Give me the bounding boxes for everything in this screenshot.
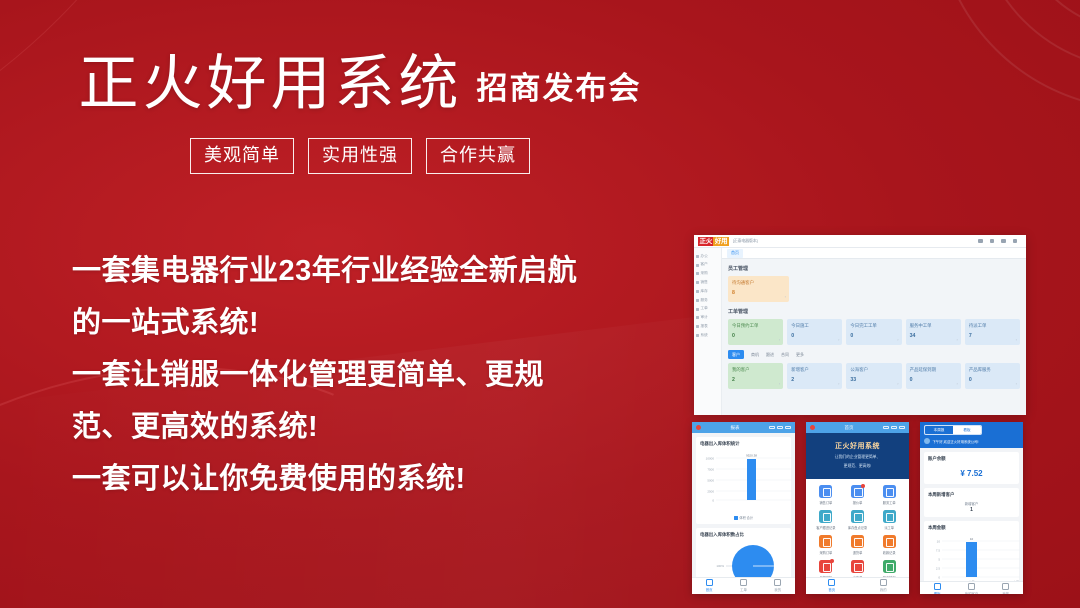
app-tile[interactable]: 服务工单: [873, 485, 905, 505]
desktop-sidebar: 办公 客户 采购 销售 库存 服务 工单 审计 报表 系统: [694, 248, 722, 415]
app-tile-label: 派工单: [873, 525, 905, 530]
app-icon: [883, 560, 896, 573]
bar-0: [747, 459, 756, 500]
system-label: [正泰电器版本]: [733, 238, 758, 244]
app-tile-label: 采购订单: [810, 550, 842, 555]
desktop-screenshot: 正火 好用 [正泰电器版本] 办公 客户 采购 销售 库存 服务 工单 审计 报: [694, 235, 1026, 415]
tabbar-label: 我的客户: [965, 592, 979, 594]
stat-card-label: 产品延保到期: [910, 367, 957, 372]
sidebar-item-label: 采购: [701, 272, 708, 276]
stat-card-value: 7: [969, 333, 1016, 339]
sidebar-item-label: 服务: [701, 299, 708, 303]
stat-card-label: 服务中工单: [910, 323, 957, 328]
stat-card-label: 待沟通客户: [732, 280, 785, 285]
app-tile[interactable]: 退货单: [842, 535, 874, 555]
sidebar-item-label: 审计: [701, 316, 708, 320]
wrench-icon: [696, 308, 699, 311]
fullscreen-icon[interactable]: [1001, 239, 1006, 244]
ytick-2: 5: [938, 558, 940, 562]
stat-card-label: 产品库服务: [969, 367, 1016, 372]
chevron-right-icon: ›: [897, 337, 898, 342]
bell-icon[interactable]: [990, 239, 995, 244]
copy-line-3: 范、更高效的系统!: [72, 401, 692, 453]
tag-item-0: 美观简单: [190, 138, 294, 174]
phone-body: 正火好用系统 让我们的企业管理更简单、 更规范、更高效! 销售订单 报价单 服务…: [806, 433, 909, 594]
filter-chip-followup[interactable]: 跟进: [766, 352, 774, 358]
new-customer-sub: 新增客户: [965, 502, 979, 506]
home-icon: [828, 579, 835, 586]
stat-card-value: 0: [791, 333, 838, 339]
list-icon: [740, 579, 747, 586]
chart-title: 本周金额: [928, 525, 1015, 531]
status-icon-group: [769, 426, 791, 430]
headset-icon: [696, 299, 699, 302]
phone-status-title: 首页: [845, 425, 854, 431]
ytick-0: 10000: [706, 457, 715, 461]
home-icon: [706, 579, 713, 586]
signal-icon: [769, 426, 775, 430]
tabbar-item-mine[interactable]: 我的: [858, 579, 910, 592]
person-icon: [774, 579, 781, 586]
grid-icon: [696, 255, 699, 258]
tabbar-label: 工单: [740, 588, 747, 592]
tabbar-label: 看板: [934, 592, 941, 594]
phone-tabbar: 看板 我的客户 我的: [920, 581, 1023, 594]
tabbar-label: 首页: [706, 588, 713, 592]
tabbar-label: 我的: [880, 588, 887, 592]
stat-card-value: 0: [850, 333, 897, 339]
tabbar-item-customers[interactable]: 我的客户: [954, 583, 988, 594]
phone-screenshot-apps: 首页 正火好用系统 让我们的企业管理更简单、 更规范、更高效! 销售订单 报价单…: [806, 422, 909, 594]
tabbar-item-mine[interactable]: 我的: [989, 583, 1023, 594]
desktop-topbar: 正火 好用 [正泰电器版本]: [694, 235, 1026, 248]
ytick-1: 7500: [707, 468, 714, 472]
tab-home[interactable]: 首页: [727, 249, 743, 258]
avatar: [924, 438, 930, 444]
app-icon: [851, 485, 864, 498]
desktop-main: 首页 员工管理 待沟通客户 8 › 工单管理 今日预约工单 0 ›: [722, 248, 1026, 415]
legend-swatch-icon: [734, 516, 738, 520]
tabbar-item-home[interactable]: 首页: [806, 579, 858, 592]
customer-card-row: 我的客户 2 › 新增客户 2 › 公海客户 33 ›: [722, 363, 1026, 389]
desktop-body: 办公 客户 采购 销售 库存 服务 工单 审计 报表 系统 首页 员工管理 待沟…: [694, 248, 1026, 415]
app-icon: [819, 560, 832, 573]
tabbar-label: 首页: [828, 588, 835, 592]
bar-1: [966, 542, 977, 577]
page-title: 正火好用系统: [79, 52, 463, 115]
gear-icon: [696, 334, 699, 337]
tag-item-1: 实用性强: [308, 138, 412, 174]
app-icon: [851, 535, 864, 548]
stat-card-value: 2: [791, 377, 838, 383]
new-customer-card: 本周新增客户 新增客户 1: [924, 488, 1019, 517]
app-icon: [819, 510, 832, 523]
balance-label: 账户余额: [928, 456, 1015, 462]
chart-icon: [696, 325, 699, 328]
sidebar-item-7[interactable]: 审计: [694, 313, 721, 322]
page-subtitle: 招商发布会: [477, 63, 642, 115]
stat-card-value: 0: [969, 377, 1016, 383]
bar-chart: 10 7.5 5 2.5 0 10 本周 上周: [928, 534, 1023, 586]
sidebar-item-3[interactable]: 销售: [694, 278, 721, 287]
new-customer-label: 本周新增客户: [928, 492, 1015, 498]
bar-chart: 10000 7500 5000 2500 0 9520.38: [700, 450, 795, 508]
stat-card-label: 我的客户: [732, 367, 779, 372]
tag-icon: [696, 281, 699, 284]
stat-card[interactable]: 我的客户 2 ›: [728, 363, 783, 389]
chevron-right-icon: ›: [956, 381, 957, 386]
phone-screenshot-dashboard: 本周报 看板 下午好,欢迎正火好用系统公司! 账户余额 ¥ 7.52 本周新增客…: [920, 422, 1023, 594]
sidebar-item-4[interactable]: 库存: [694, 287, 721, 296]
app-tile-label: 服务工单: [873, 500, 905, 505]
settings-icon[interactable]: [978, 239, 983, 244]
stat-card-value: 34: [910, 333, 957, 339]
app-tile-label: 客户跟进记录: [810, 525, 842, 530]
app-icon: [883, 535, 896, 548]
banner-subtitle-2: 更规范、更高效!: [812, 463, 903, 469]
filter-chip-row: 客户 商机 跟进 合同 更多: [722, 345, 1026, 363]
sidebar-item-label: 客户: [701, 263, 708, 267]
person-icon: [880, 579, 887, 586]
phone-body: 电器出入库体积统计 10000 7500 5000 2500 0: [692, 433, 795, 594]
copy-line-4: 一套可以让你免费使用的系统!: [72, 453, 692, 505]
sidebar-item-9[interactable]: 系统: [694, 331, 721, 340]
stat-card[interactable]: 待派工单 7 ›: [965, 319, 1020, 345]
app-tile[interactable]: 派工单: [873, 510, 905, 530]
app-badge-icon: [696, 425, 701, 430]
person-icon: [696, 264, 699, 267]
tag-list: 美观简单 实用性强 合作共赢: [0, 138, 720, 174]
bar-data-label-0: 10: [970, 537, 974, 541]
sidebar-item-label: 销售: [701, 281, 708, 285]
chevron-right-icon: ›: [838, 337, 839, 342]
section-title-staff: 员工管理: [728, 265, 1026, 272]
notification-badge-icon: [830, 559, 834, 563]
menu-icon: [899, 426, 905, 430]
stat-card[interactable]: 今日完工工单 0 ›: [846, 319, 901, 345]
phone-tabbar: 首页 我的: [806, 577, 909, 594]
segment-board[interactable]: 看板: [953, 426, 981, 434]
tag-item-2: 合作共赢: [426, 138, 530, 174]
sidebar-item-6[interactable]: 工单: [694, 305, 721, 314]
app-tile[interactable]: 报价单: [842, 485, 874, 505]
stat-card-value: 2: [732, 377, 779, 383]
stat-card-value: 8: [732, 290, 785, 296]
section-title-workorder: 工单管理: [728, 308, 1026, 315]
desktop-tabstrip: 首页: [722, 248, 1026, 259]
logo-text-orange: 好用: [713, 237, 728, 246]
app-tile[interactable]: 库存盘点记录: [842, 510, 874, 530]
stat-card[interactable]: 公海客户 33 ›: [846, 363, 901, 389]
tabbar-item-mine[interactable]: 我的: [761, 579, 795, 592]
app-icon: [851, 560, 864, 573]
copy-line-0: 一套集电器行业23年行业经验全新启航: [72, 245, 692, 297]
stat-card[interactable]: 产品库服务 0 ›: [965, 363, 1020, 389]
sidebar-item-1[interactable]: 客户: [694, 261, 721, 270]
user-icon[interactable]: [1013, 239, 1018, 244]
stat-card-label: 今日施工: [791, 323, 838, 328]
phone-screenshot-reports: 报表 电器出入库体积统计 10000 7500 5000 2500: [692, 422, 795, 594]
stat-card[interactable]: 产品延保到期 0 ›: [906, 363, 961, 389]
pie-data-label-0: 100%: [716, 564, 724, 568]
stat-card-value: 33: [850, 377, 897, 383]
chart-title: 电器出入库体积统计: [700, 441, 787, 447]
app-tile[interactable]: 销售订单: [810, 485, 842, 505]
dashboard-icon: [934, 583, 941, 590]
stat-card-label: 公海客户: [850, 367, 897, 372]
balance-value: ¥ 7.52: [928, 465, 1015, 480]
gear-icon: [1002, 583, 1009, 590]
app-tile-label: 库存盘点记录: [842, 525, 874, 530]
app-icon: [819, 535, 832, 548]
sidebar-item-2[interactable]: 采购: [694, 270, 721, 279]
balance-card: 账户余额 ¥ 7.52: [924, 452, 1019, 484]
battery-icon: [777, 426, 783, 430]
chart-legend: 体积 合计: [700, 515, 787, 520]
chevron-right-icon: ›: [779, 337, 780, 342]
status-icon-group: [883, 426, 905, 430]
poster-canvas: 正火好用系统 招商发布会 美观简单 实用性强 合作共赢 一套集电器行业23年行业…: [0, 0, 1080, 608]
phone-statusbar: 报表: [692, 422, 795, 433]
banner-subtitle-1: 让我们的企业管理更简单、: [812, 454, 903, 460]
chevron-right-icon: ›: [1016, 381, 1017, 386]
ytick-2: 5000: [707, 479, 714, 483]
doc-icon: [696, 316, 699, 319]
ytick-1: 7.5: [936, 549, 941, 553]
filter-chip-customer[interactable]: 客户: [728, 350, 744, 359]
stat-card[interactable]: 待沟通客户 8 ›: [728, 276, 789, 302]
signal-icon: [883, 426, 889, 430]
tabbar-item-home[interactable]: 首页: [692, 579, 726, 592]
app-tile-label: 报价单: [842, 500, 874, 505]
app-icon: [851, 510, 864, 523]
sidebar-item-8[interactable]: 报表: [694, 322, 721, 331]
phone-status-title: 报表: [731, 425, 740, 431]
chevron-right-icon: ›: [785, 294, 786, 299]
sidebar-item-label: 办公: [701, 255, 708, 259]
tabbar-label: 我的: [774, 588, 781, 592]
body-copy: 一套集电器行业23年行业经验全新启航 的一站式系统! 一套让销服一体化管理更简单…: [72, 245, 692, 505]
person-icon: [968, 583, 975, 590]
stat-card[interactable]: 今日预约工单 0 ›: [728, 319, 783, 345]
app-logo: 正火 好用: [698, 237, 729, 246]
sidebar-item-label: 工单: [701, 307, 708, 311]
sidebar-item-5[interactable]: 服务: [694, 296, 721, 305]
stat-card-label: 今日预约工单: [732, 323, 779, 328]
stat-card[interactable]: 服务中工单 34 ›: [906, 319, 961, 345]
app-tile[interactable]: 收款记录: [873, 535, 905, 555]
sidebar-item-label: 报表: [701, 325, 708, 329]
box-icon: [696, 290, 699, 293]
stat-card[interactable]: 今日施工 0 ›: [787, 319, 842, 345]
tabbar-item-workorder[interactable]: 工单: [726, 579, 760, 592]
app-tile[interactable]: 采购订单: [810, 535, 842, 555]
ytick-3: 2.5: [936, 567, 941, 571]
app-tile-label: 退货单: [842, 550, 874, 555]
workorder-card-row: 今日预约工单 0 › 今日施工 0 › 今日完工工单 0 ›: [722, 319, 1026, 345]
menu-icon: [785, 426, 791, 430]
staff-card-row: 待沟通客户 8 ›: [722, 276, 1026, 302]
app-tile-label: 销售订单: [810, 500, 842, 505]
phone-tabbar: 首页 工单 我的: [692, 577, 795, 594]
chevron-right-icon: ›: [956, 337, 957, 342]
ytick-4: 0: [712, 499, 714, 503]
tabbar-label: 我的: [1002, 592, 1009, 594]
phone-statusbar: 首页: [806, 422, 909, 433]
stat-card[interactable]: 新增客户 2 ›: [787, 363, 842, 389]
ytick-4: 0: [938, 576, 940, 580]
window-icon-group: [978, 239, 1022, 244]
new-customer-metric: 新增客户 1: [928, 501, 1015, 513]
logo-text-red: 正火: [698, 237, 713, 246]
app-tile[interactable]: 客户跟进记录: [810, 510, 842, 530]
greeting-text: 下午好,欢迎正火好用系统公司!: [933, 439, 979, 444]
new-customer-value: 1: [928, 507, 1015, 513]
chevron-right-icon: ›: [897, 381, 898, 386]
copy-line-2: 一套让销服一体化管理更简单、更规: [72, 349, 692, 401]
ytick-3: 2500: [707, 490, 714, 494]
chart-title: 电器出入库体积数占比: [700, 532, 787, 538]
stat-card-value: 0: [910, 377, 957, 383]
phone-body: 账户余额 ¥ 7.52 本周新增客户 新增客户 1 本周金额: [920, 448, 1023, 594]
banner-title: 正火好用系统: [812, 441, 903, 451]
chevron-right-icon: ›: [779, 381, 780, 386]
filter-chip-contract[interactable]: 合同: [781, 352, 789, 358]
chevron-right-icon: ›: [838, 381, 839, 386]
app-icon: [819, 485, 832, 498]
poster-header: 正火好用系统 招商发布会 美观简单 实用性强 合作共赢: [0, 52, 720, 174]
sidebar-item-label: 库存: [701, 290, 708, 294]
battery-icon: [891, 426, 897, 430]
app-icon: [883, 510, 896, 523]
app-badge-icon: [810, 425, 815, 430]
phone-header: 本周报 看板 下午好,欢迎正火好用系统公司!: [920, 422, 1023, 448]
notification-badge-icon: [861, 484, 865, 488]
segmented-control[interactable]: 本周报 看板: [924, 425, 982, 435]
app-tile-label: 收款记录: [873, 550, 905, 555]
cart-icon: [696, 272, 699, 275]
stat-card-value: 0: [732, 333, 779, 339]
bar-data-label-0: 9520.38: [746, 454, 757, 458]
sidebar-item-0[interactable]: 办公: [694, 252, 721, 261]
copy-line-1: 的一站式系统!: [72, 297, 692, 349]
chevron-right-icon: ›: [1016, 337, 1017, 342]
stat-card-label: 今日完工工单: [850, 323, 897, 328]
filter-chip-more[interactable]: 更多: [796, 352, 804, 358]
user-greeting-row: 下午好,欢迎正火好用系统公司!: [924, 438, 1019, 444]
stat-card-label: 待派工单: [969, 323, 1016, 328]
app-icon: [883, 485, 896, 498]
bar-chart-card: 电器出入库体积统计 10000 7500 5000 2500 0: [696, 437, 791, 524]
segment-weekly[interactable]: 本周报: [925, 426, 953, 434]
tabbar-item-board[interactable]: 看板: [920, 583, 954, 594]
ytick-0: 10: [937, 540, 941, 544]
filter-chip-opportunity[interactable]: 商机: [751, 352, 759, 358]
promo-banner: 正火好用系统 让我们的企业管理更简单、 更规范、更高效!: [806, 433, 909, 479]
sidebar-item-label: 系统: [701, 334, 708, 338]
legend-label: 体积 合计: [739, 516, 753, 520]
title-row: 正火好用系统 招商发布会: [0, 52, 720, 115]
stat-card-label: 新增客户: [791, 367, 838, 372]
